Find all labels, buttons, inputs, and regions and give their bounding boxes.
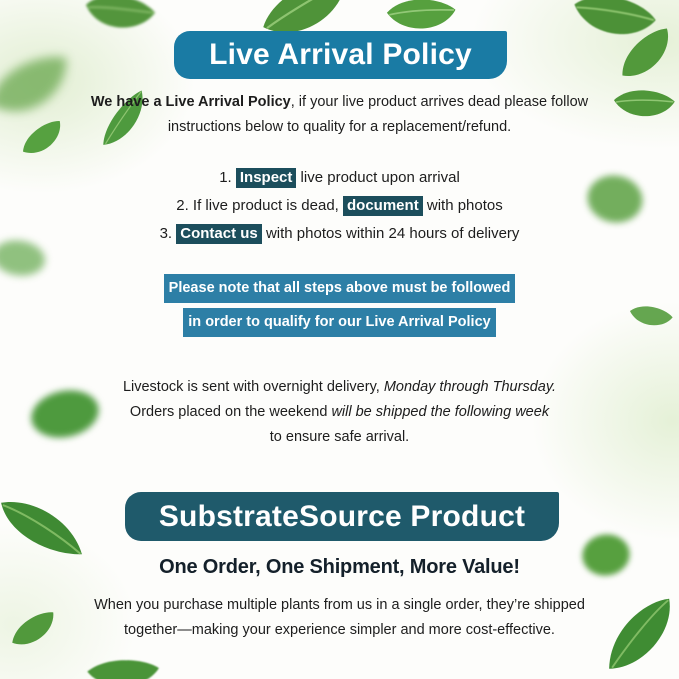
policy-note-line-1-wrap: Please note that all steps above must be… [0,274,679,303]
policy-note-line-2-wrap: in order to qualify for our Live Arrival… [0,308,679,337]
shipping-schedule-paragraph: Livestock is sent with overnight deliver… [0,375,679,450]
value-line-1: When you purchase multiple plants from u… [0,593,679,618]
step-2-pre: If live product is dead, [189,197,343,214]
policy-note-line-1: Please note that all steps above must be… [164,274,516,303]
promo-graphic: Live Arrival Policy We have a Live Arriv… [0,0,679,679]
step-3-highlight: Contact us [176,224,262,244]
intro-line-2: instructions below to quality for a repl… [0,115,679,140]
intro-line-1-bold: We have a Live Arrival Policy [91,94,291,110]
shipping-line-1: Livestock is sent with overnight deliver… [0,375,679,400]
step-3-number: 3. [160,225,173,242]
value-subtitle: One Order, One Shipment, More Value! [0,556,679,579]
substrate-source-product-title: SubstrateSource Product [159,502,525,532]
content-layer: Live Arrival Policy We have a Live Arriv… [0,0,679,679]
live-arrival-policy-banner: Live Arrival Policy [174,31,507,79]
step-2-highlight: document [343,196,423,216]
shipping-line-2: Orders placed on the weekend will be shi… [0,400,679,425]
value-paragraph: When you purchase multiple plants from u… [0,593,679,643]
step-1-highlight: Inspect [236,168,297,188]
shipping-line-3: to ensure safe arrival. [0,425,679,450]
step-2-number: 2. [176,197,189,214]
intro-line-1: We have a Live Arrival Policy, if your l… [0,90,679,115]
steps-list: 1. Inspect live product upon arrival 2. … [0,164,679,248]
step-1-number: 1. [219,169,232,186]
shipping-line-1-plain: Livestock is sent with overnight deliver… [123,379,384,395]
live-arrival-policy-title: Live Arrival Policy [209,40,472,70]
shipping-line-2-italic: will be shipped the following week [331,404,549,420]
shipping-line-2-plain: Orders placed on the weekend [130,404,332,420]
intro-paragraph: We have a Live Arrival Policy, if your l… [0,90,679,140]
step-3-post: with photos within 24 hours of delivery [262,225,520,242]
step-1-post: live product upon arrival [296,169,459,186]
step-item-3: 3. Contact us with photos within 24 hour… [0,220,679,248]
value-line-2: together—making your experience simpler … [0,618,679,643]
step-item-1: 1. Inspect live product upon arrival [0,164,679,192]
policy-note-block: Please note that all steps above must be… [0,274,679,337]
substrate-source-product-banner: SubstrateSource Product [125,492,559,541]
intro-line-1-rest: , if your live product arrives dead plea… [291,94,588,110]
policy-note-line-2: in order to qualify for our Live Arrival… [183,308,495,337]
shipping-line-1-italic: Monday through Thursday. [384,379,556,395]
step-item-2: 2. If live product is dead, document wit… [0,192,679,220]
step-2-post: with photos [423,197,503,214]
